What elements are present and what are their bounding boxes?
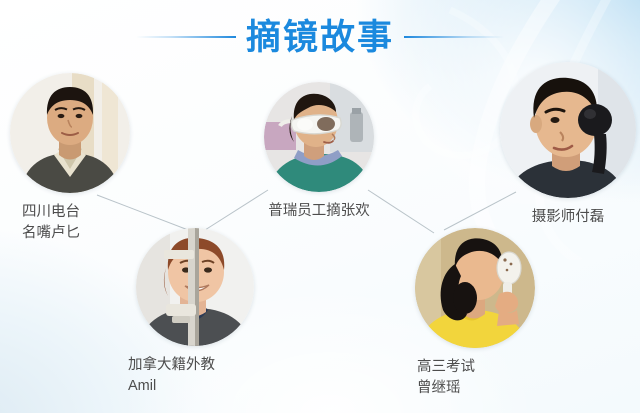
- avatar-prui-staff-zhang-huan: [264, 82, 374, 192]
- story-caption-canadian-teacher-amil: 加拿大籍外教 Amil: [128, 355, 254, 397]
- caption-line-1: 加拿大籍外教: [128, 357, 215, 373]
- story-card-sichuan-radio-host[interactable]: 四川电台 名嘴卢匕: [10, 73, 130, 244]
- story-caption-gaokao-student-zeng-jiyao: 高三考试 曾继瑶: [417, 357, 535, 399]
- caption-line-1: 四川电台: [22, 204, 80, 220]
- title-divider-left-icon: [136, 36, 236, 38]
- story-caption-photographer-fu-lei: 摄影师付磊: [500, 207, 636, 228]
- story-card-photographer-fu-lei[interactable]: 摄影师付磊: [500, 62, 636, 228]
- caption-line-1: 高三考试: [417, 359, 475, 375]
- story-banner: 摘镜故事: [0, 0, 640, 413]
- story-card-canadian-teacher-amil[interactable]: 加拿大籍外教 Amil: [136, 228, 254, 397]
- caption-line-2: 名嘴卢匕: [22, 223, 130, 244]
- title-divider-right-icon: [404, 36, 504, 38]
- page-title: 摘镜故事: [0, 14, 640, 60]
- story-caption-sichuan-radio-host: 四川电台 名嘴卢匕: [22, 202, 130, 244]
- story-card-prui-staff-zhang-huan[interactable]: 普瑞员工摘张欢: [264, 82, 374, 222]
- avatar-gaokao-student-zeng-jiyao: [415, 228, 535, 348]
- avatar-canadian-teacher-amil: [136, 228, 254, 346]
- caption-line-1: 摄影师付磊: [532, 209, 605, 225]
- avatar-sichuan-radio-host: [10, 73, 130, 193]
- caption-line-2: 曾继瑶: [417, 378, 535, 399]
- story-caption-prui-staff-zhang-huan: 普瑞员工摘张欢: [264, 201, 374, 222]
- caption-line-1: 普瑞员工摘张欢: [268, 203, 370, 219]
- page-title-text: 摘镜故事: [246, 20, 394, 55]
- story-card-gaokao-student-zeng-jiyao[interactable]: 高三考试 曾继瑶: [415, 228, 535, 399]
- caption-line-2: Amil: [128, 376, 254, 397]
- avatar-photographer-fu-lei: [500, 62, 636, 198]
